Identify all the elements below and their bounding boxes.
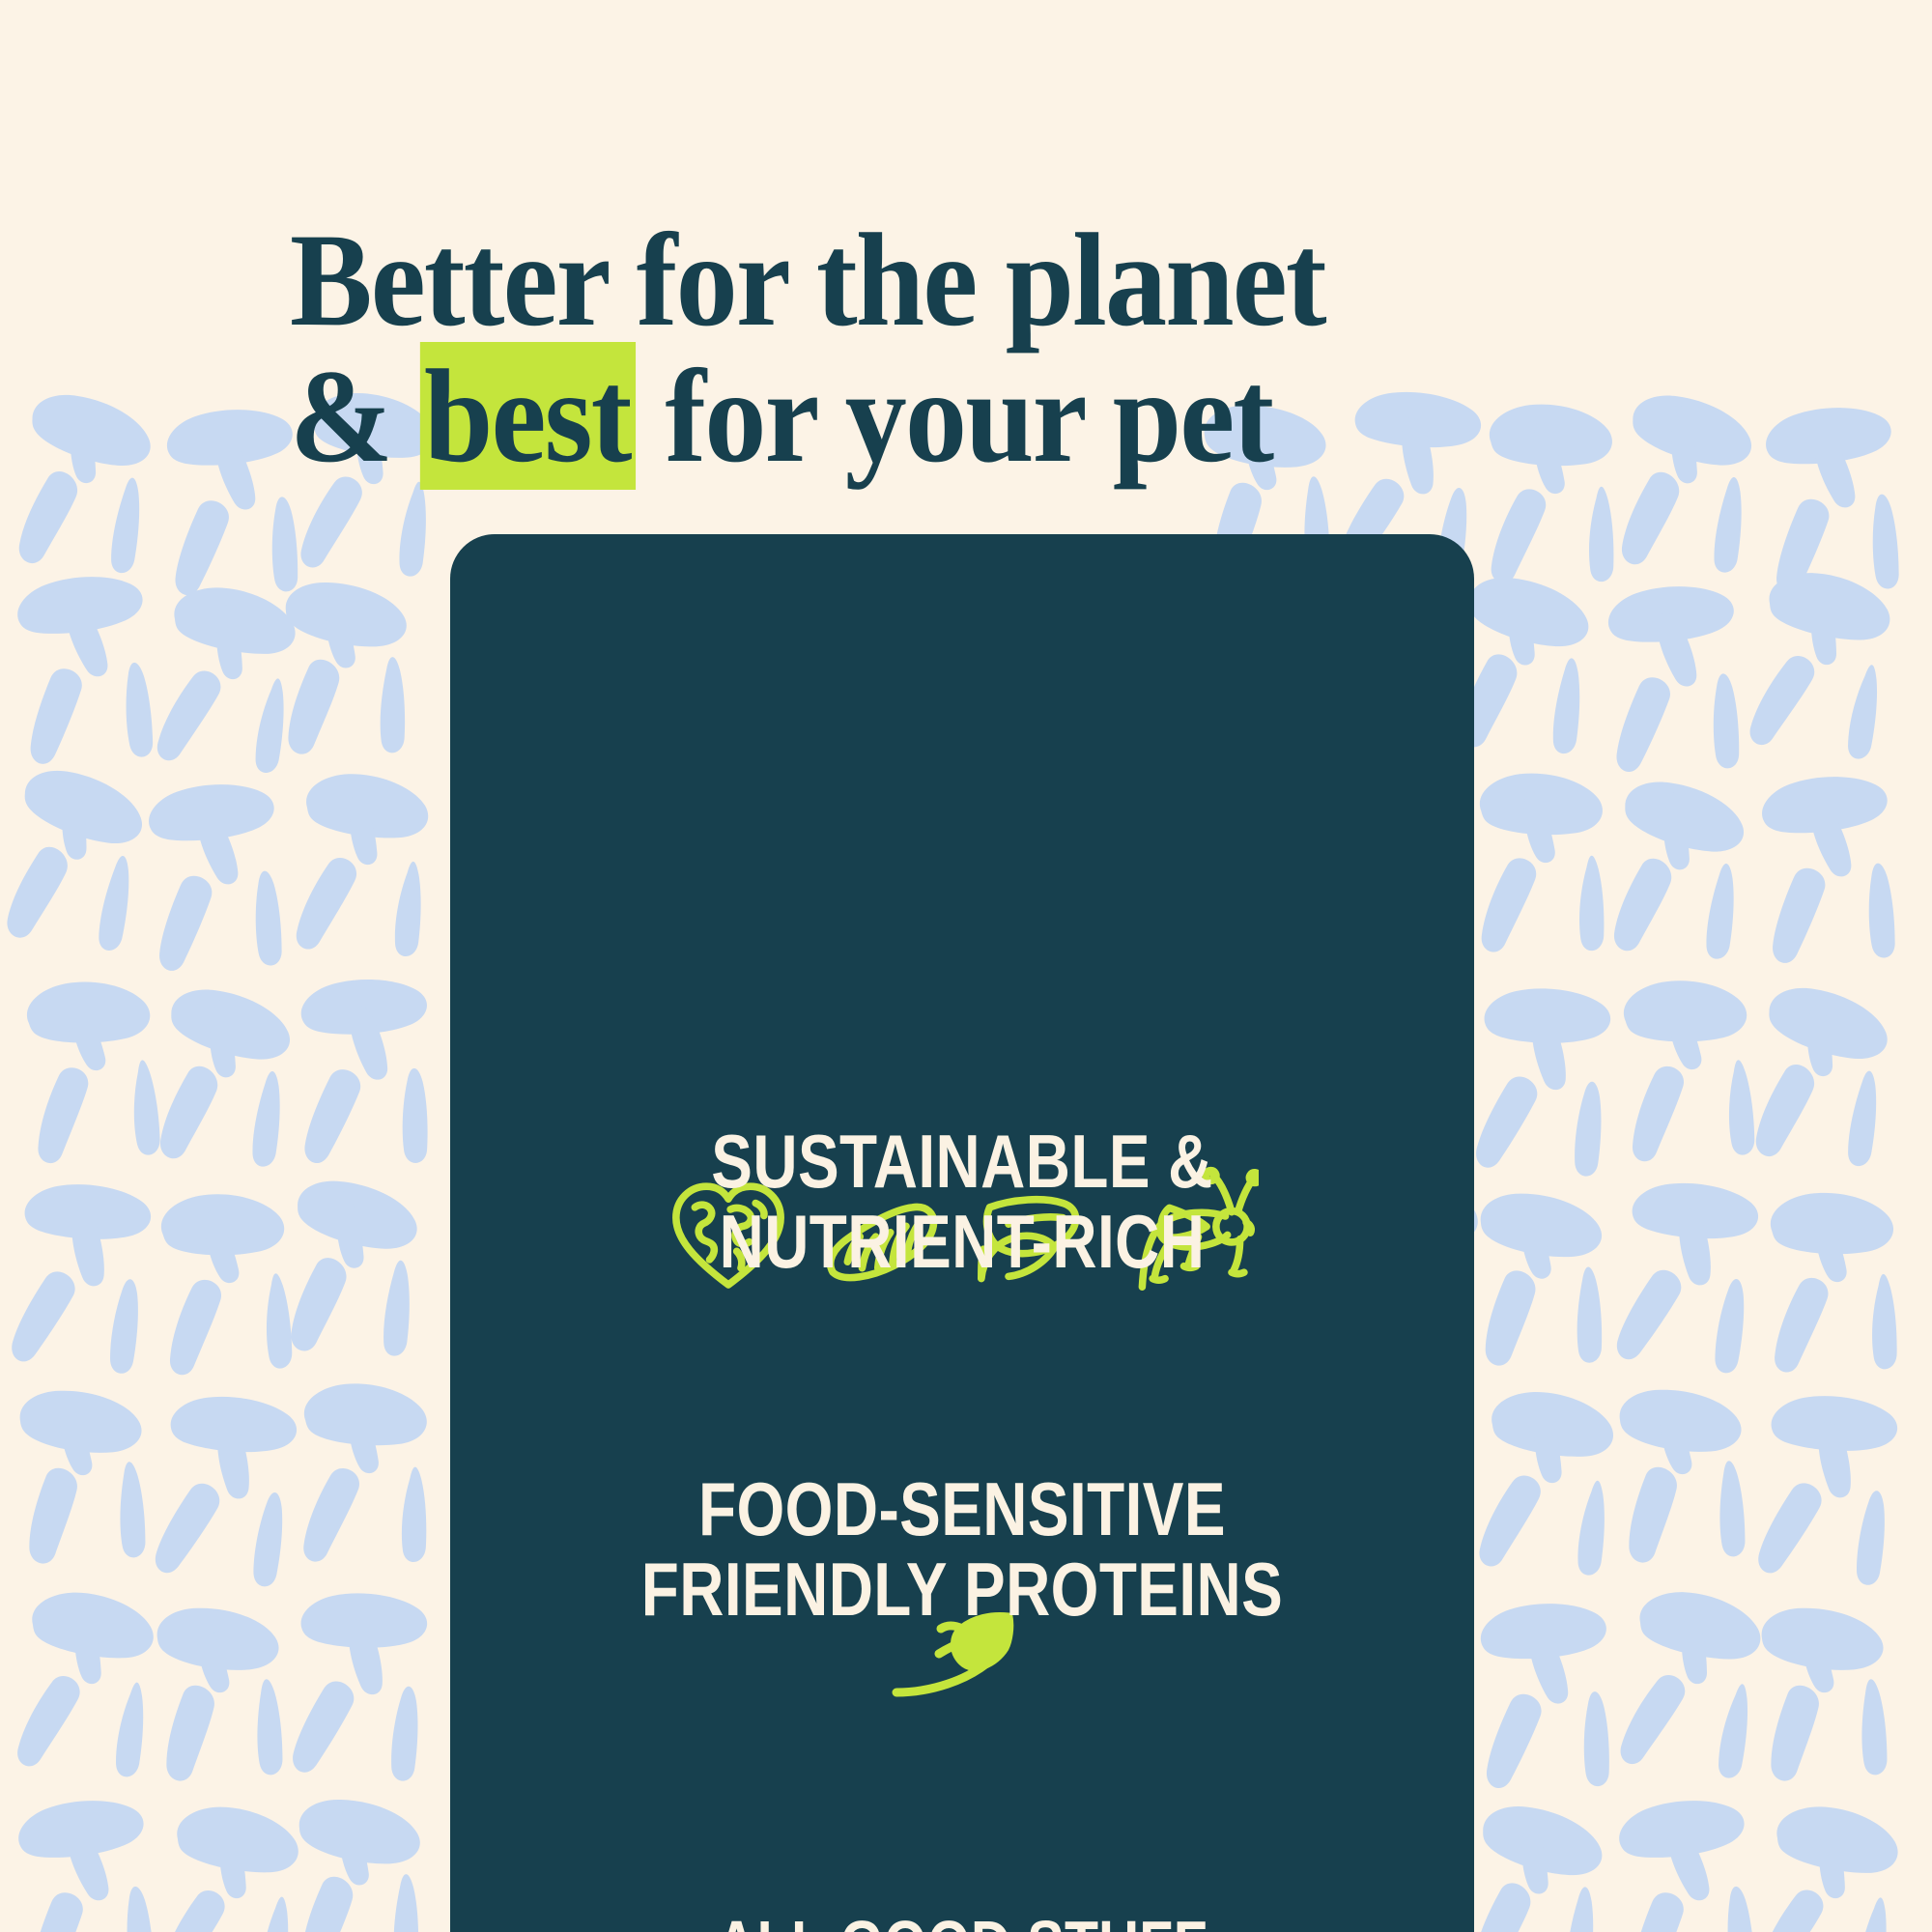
feature-title-food-sensitive: FOOD-SENSITIVE FRIENDLY PROTEINS [542, 1469, 1381, 1631]
headline-line-1: Better for the planet [290, 213, 1637, 349]
all-good-stuff-text: ALL GOOD STUFF [717, 1907, 1208, 1932]
headline-line-2: & best for your pet [290, 349, 1637, 485]
page-title: Better for the planet & best for your pe… [290, 213, 1637, 485]
headline-prefix: & [290, 342, 420, 490]
headline-highlight-best: best [420, 342, 636, 490]
feature-block-food-sensitive: FOOD-SENSITIVE FRIENDLY PROTEINS [450, 1469, 1474, 1631]
poster-canvas: Better for the planet & best for your pe… [0, 0, 1932, 1932]
feature-title-sustainable: SUSTAINABLE & NUTRIENT-RICH [542, 1122, 1381, 1283]
feature-card: SUSTAINABLE & NUTRIENT-RICH FOOD-SENSITI… [450, 534, 1474, 1932]
feature-title-all-good-stuff: ALL GOOD STUFF NO YUCK [542, 1836, 1381, 1932]
feature-block-sustainable: SUSTAINABLE & NUTRIENT-RICH [450, 1122, 1474, 1283]
feature-block-no-yuck: ALL GOOD STUFF NO YUCK [450, 1836, 1474, 1932]
headline-suffix: for your pet [636, 342, 1272, 490]
